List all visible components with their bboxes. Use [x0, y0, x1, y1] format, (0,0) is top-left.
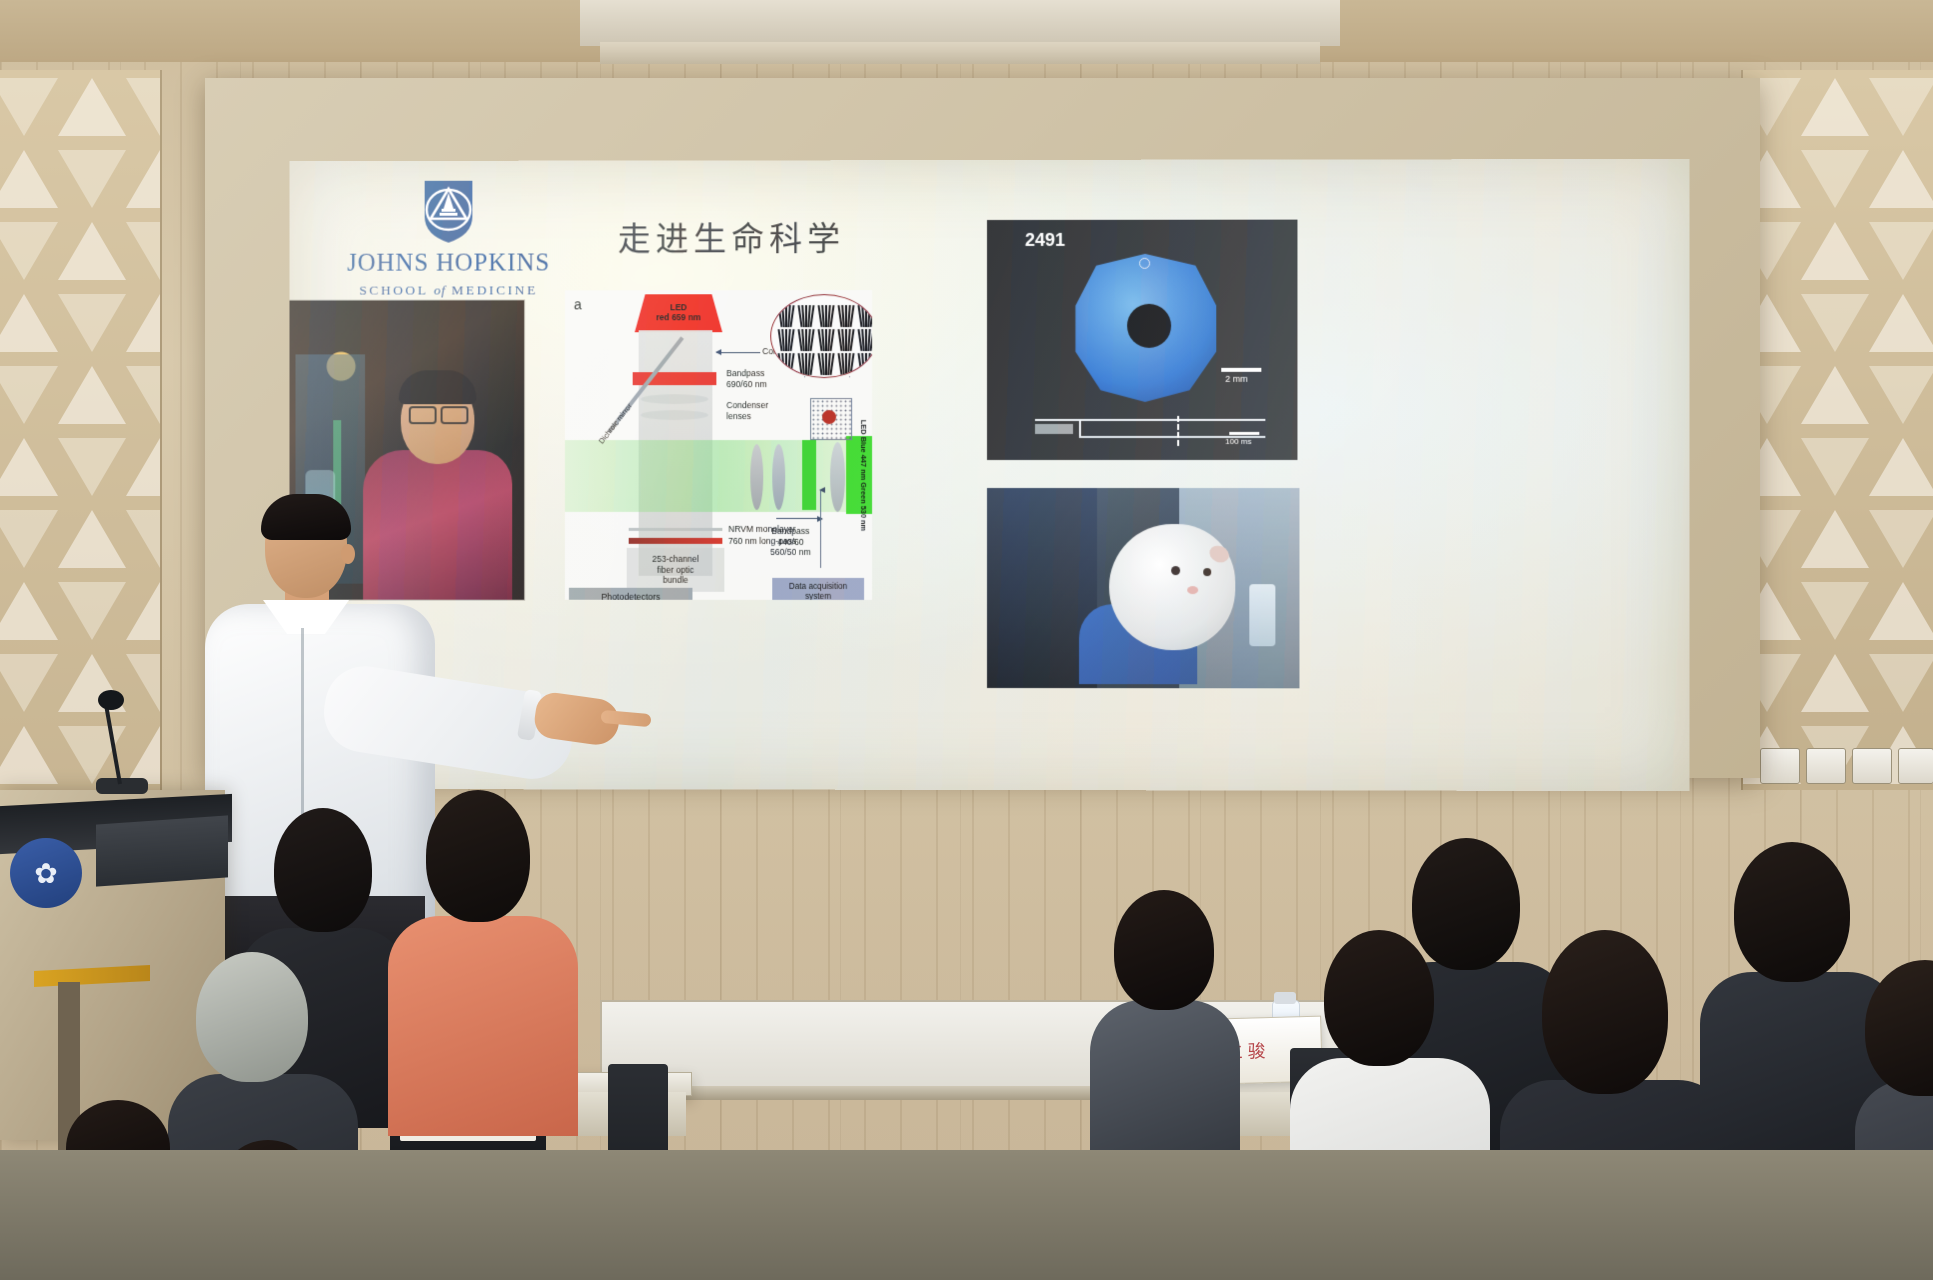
time-scale-label: 100 ms [1225, 437, 1251, 446]
daq-up-arrow [820, 490, 821, 568]
acoustic-triangle [1869, 366, 1933, 424]
acoustic-triangle [1801, 222, 1869, 280]
acoustic-triangle [1869, 222, 1933, 280]
data-acquisition-block: Data acquisition system [772, 578, 864, 600]
recording-site-marker [1139, 258, 1150, 269]
wall-socket-2[interactable] [1806, 748, 1846, 784]
acoustic-triangle [0, 294, 58, 352]
wall-socket-1[interactable] [1760, 748, 1800, 784]
acoustic-triangle [0, 510, 58, 568]
acoustic-triangle [1869, 438, 1933, 496]
led-blue-line2: Blue 447 nm [860, 436, 869, 480]
wall-socket-3[interactable] [1852, 748, 1892, 784]
acoustic-triangle [1801, 78, 1869, 136]
acoustic-triangle [0, 366, 58, 424]
frame-number-label: 2491 [1025, 230, 1065, 251]
scientist-glasses-left [409, 406, 437, 424]
lab-bottle [1249, 584, 1275, 646]
audience-head [196, 952, 308, 1082]
acoustic-triangle [1801, 294, 1869, 352]
collimating-lens-arrow [716, 352, 760, 353]
led-blue-green-source: LED Blue 447 nm Green 530 nm [846, 436, 872, 514]
illuminated-region-dot [822, 410, 836, 424]
audience-member-2 [388, 790, 578, 1110]
audience-body [388, 916, 578, 1136]
guinea-pig-eye-right [1203, 568, 1211, 576]
monolayer-center-hole [1127, 304, 1171, 348]
trace-downstroke [1079, 419, 1081, 437]
acoustic-triangle [0, 438, 58, 496]
condenser-lenses-label: Condenser lenses [726, 400, 768, 421]
fiber-bundle-oval [770, 294, 872, 378]
acoustic-triangle [1869, 78, 1933, 136]
microphone-capsule [98, 690, 124, 710]
led-blue-labels: LED Blue 447 nm Green 530 nm [860, 419, 869, 530]
time-scale-bar [1229, 432, 1259, 435]
division-suffix: MEDICINE [451, 282, 537, 297]
acoustic-triangle [1869, 582, 1933, 640]
acoustic-triangle [58, 294, 126, 352]
acoustic-triangle [1801, 654, 1869, 712]
university-crest-icon: ✿ [10, 838, 82, 908]
daq-line1: Data acquisition [789, 582, 847, 591]
spatial-scale-bar [1221, 368, 1261, 372]
guinea-pig-body [1109, 524, 1235, 650]
audience-member-11 [1090, 890, 1240, 1190]
green-filter-bar [802, 440, 816, 510]
condenser-line2: lenses [726, 411, 751, 421]
acoustic-triangle [126, 726, 162, 784]
division-italic: of [434, 283, 446, 298]
ceiling-strip-lower [600, 42, 1320, 64]
floor [0, 1150, 1933, 1280]
led-blue-line1: LED [860, 419, 869, 434]
acoustic-triangle [1869, 654, 1933, 712]
speaker-ear [341, 544, 355, 564]
guinea-pig-eye-left [1171, 566, 1180, 575]
audience-head [1324, 930, 1434, 1066]
acoustic-triangle [58, 150, 126, 208]
acoustic-triangle [1869, 294, 1933, 352]
acoustic-triangle [126, 366, 162, 424]
figure-panel-letter: a [574, 296, 582, 312]
led-red-label-2: red 659 nm [656, 313, 701, 323]
audience-head [274, 808, 372, 932]
audience-head [426, 790, 530, 922]
audience-head [1865, 960, 1933, 1096]
long-pass-label: 760 nm long-pass [728, 536, 796, 547]
fiber-bundle-line1: 253-channel [652, 554, 699, 564]
acoustic-triangle [126, 654, 162, 712]
fiber-optic-bundle: 253-channel fiber optic bundle [627, 548, 725, 592]
slide-title-chinese: 走进生命科学 [618, 212, 845, 260]
acoustic-triangle [58, 78, 126, 136]
collimating-lens-1 [641, 394, 709, 404]
acoustic-triangle [0, 654, 58, 712]
acoustic-triangle [1869, 510, 1933, 568]
lecture-hall-photo: JOHNS HOPKINS SCHOOL of MEDICINE 走进生命科学 … [0, 0, 1933, 1280]
dichroic-mirror-label: Dichroic mirror [597, 402, 634, 446]
acoustic-triangle [0, 150, 58, 208]
acoustic-triangle [1801, 510, 1869, 568]
acoustic-triangle [0, 726, 58, 784]
audience-head [1542, 930, 1668, 1094]
condenser-lens-c [830, 442, 845, 512]
acoustic-triangle [126, 438, 162, 496]
animal-photo-panel [987, 488, 1299, 688]
acoustic-triangle [0, 582, 58, 640]
acoustic-triangle [1801, 438, 1869, 496]
scientist-glasses-right [441, 406, 469, 424]
collimating-lens-2 [641, 410, 709, 420]
acoustic-triangle [58, 438, 126, 496]
acoustic-triangle [1869, 150, 1933, 208]
acoustic-triangle [126, 150, 162, 208]
fiber-bundle-line2: fiber optic [657, 565, 694, 575]
acoustic-triangle [126, 582, 162, 640]
trace-time-marker [1177, 416, 1179, 446]
acoustic-triangle [1801, 582, 1869, 640]
right-acoustic-panel [1741, 70, 1933, 790]
acoustic-triangle [126, 510, 162, 568]
jhu-logo-block: JOHNS HOPKINS SCHOOL of MEDICINE [329, 179, 568, 299]
ceiling-strip [580, 0, 1340, 46]
jhu-institution-name: JOHNS HOPKINS [329, 250, 568, 275]
bandpass-right-arrow [776, 518, 822, 519]
led-blue-line3: Green 530 nm [860, 482, 869, 531]
fiber-bundle-inset [770, 294, 872, 378]
acoustic-triangle [58, 582, 126, 640]
acoustic-triangle [126, 78, 162, 136]
acoustic-triangle [126, 294, 162, 352]
bandpass-top-line1: Bandpass [726, 368, 764, 378]
audience-head [1114, 890, 1214, 1010]
led-red-source: LED red 659 nm [635, 294, 723, 332]
condenser-lens-a [750, 444, 763, 510]
optical-mapping-panel: 2491 2 mm 100 ms [987, 220, 1297, 460]
lectern-control-panel[interactable] [96, 815, 228, 886]
acoustic-triangle [0, 222, 58, 280]
guinea-pig-nose [1187, 586, 1198, 594]
wall-socket-4[interactable] [1898, 748, 1933, 784]
microphone-base [96, 778, 148, 794]
jhu-division-name: SCHOOL of MEDICINE [329, 282, 568, 298]
acoustic-triangle [58, 366, 126, 424]
nrvm-monolayer-element [629, 528, 723, 531]
daq-line2: system [805, 592, 831, 600]
speaker-hair [261, 494, 351, 540]
acoustic-triangle [126, 222, 162, 280]
acoustic-triangle [0, 78, 58, 136]
trace-upper-segment [1035, 419, 1265, 421]
division-prefix: SCHOOL [359, 283, 428, 298]
scientist-hair [399, 370, 477, 404]
bandpass-right-line3: 560/50 nm [770, 547, 811, 557]
condenser-line1: Condenser [726, 400, 768, 410]
acoustic-triangle [1801, 366, 1869, 424]
fiber-funnel [804, 376, 850, 400]
johns-hopkins-shield-icon [421, 179, 477, 245]
condenser-lens-b [772, 444, 785, 510]
acoustic-triangle [1801, 150, 1869, 208]
trace-stimulus-bar [1035, 424, 1073, 434]
nrvm-monolayer-label: NRVM monolayer [728, 524, 796, 535]
audience-head [1734, 842, 1850, 982]
fiber-bundle-line3: bundle [663, 575, 688, 585]
spatial-scale-label: 2 mm [1225, 374, 1248, 384]
acoustic-triangle [58, 510, 126, 568]
bandpass-top-line2: 690/60 nm [726, 379, 767, 389]
bandpass-top-label: Bandpass 690/60 nm [726, 368, 767, 389]
acoustic-triangle [58, 222, 126, 280]
long-pass-filter-element [629, 538, 723, 544]
